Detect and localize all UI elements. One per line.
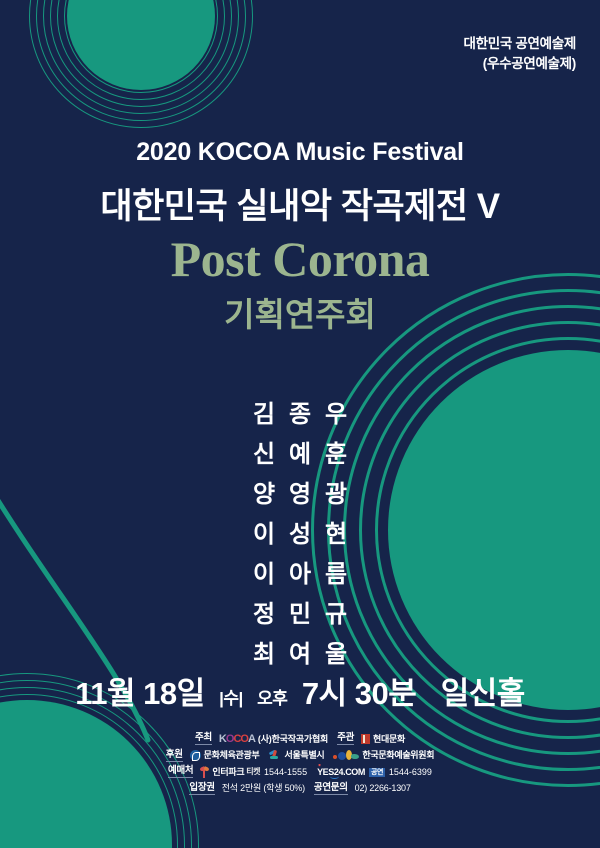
credit-item-organizer: 현대문화 [361, 734, 405, 744]
composer-list: 김 종 우 신 예 훈 양 영 광 이 성 현 이 아 름 [0, 394, 600, 669]
host-org-name: (사)한국작곡가협회 [258, 735, 328, 744]
ticket-price: 전석 2만원 (학생 50%) [222, 784, 305, 793]
composer-char: 예 [282, 434, 318, 469]
composer-char: 신 [246, 434, 282, 469]
composer-char: 정 [246, 594, 282, 629]
credit-label-organizer: 주관 [337, 733, 354, 745]
credit-row-ticketing: 예매처 인터파크 티켓 1544-1555 YES24.COM '' 공연 15… [168, 766, 432, 778]
page-title: 대한민국 실내악 작곡제전 V [0, 178, 600, 229]
list-item: 정 민 규 [246, 594, 354, 629]
composer-char: 종 [282, 394, 318, 429]
vendor-phone-yes24: 1544-6399 [389, 768, 432, 777]
support-org-mcst: 문화체육관광부 [204, 751, 260, 760]
schedule-ampm: 오후 [257, 689, 287, 708]
composer-char: 민 [282, 594, 318, 629]
yes24-tick-icon: '' [318, 764, 320, 772]
vendor-phone-interpark: 1544-1555 [264, 768, 307, 777]
composer-char: 름 [318, 554, 354, 589]
list-item: 이 성 현 [246, 514, 354, 549]
composer-char: 양 [246, 474, 282, 509]
credit-label-ticketing: 예매처 [168, 766, 193, 778]
composer-char: 이 [246, 514, 282, 549]
credits-block: 주최 KOCOA (사)한국작곡가협회 주관 현대문화 후원 문화체육관광부 [0, 733, 600, 795]
festival-badge-line1: 대한민국 공연예술제 [463, 34, 576, 54]
list-item: 양 영 광 [246, 474, 354, 509]
credit-item-yes24[interactable]: YES24.COM '' 공연 1544-6399 [316, 768, 432, 777]
composer-char: 규 [318, 594, 354, 629]
credit-item-arko: 한국문화예술위원회 [333, 750, 434, 761]
support-org-seoul: 서울특별시 [285, 751, 325, 760]
credit-label-pricing: 입장권 [189, 783, 214, 795]
yes24-logo-icon: YES24.COM '' [316, 768, 366, 777]
vendor-name-interpark: 인터파크 [212, 768, 244, 777]
credit-row-host: 주최 KOCOA (사)한국작곡가협회 주관 현대문화 [195, 733, 405, 745]
credit-row-pricing: 입장권 전석 2만원 (학생 50%) 공연문의 02) 2266-1307 [189, 783, 410, 795]
arko-logo-icon [333, 750, 359, 761]
list-item: 이 아 름 [246, 554, 354, 589]
composer-char: 훈 [318, 434, 354, 469]
composer-char: 최 [246, 634, 282, 669]
schedule-weekday: |수| [219, 689, 243, 708]
composer-char: 김 [246, 394, 282, 429]
mcst-logo-icon [190, 750, 201, 761]
composer-char: 여 [282, 634, 318, 669]
kocoa-logo-icon: KOCOA [219, 734, 255, 745]
subtitle-english: Post Corona [0, 230, 600, 288]
ticket-price-value: 전석 2만원 (학생 50%) [222, 784, 305, 793]
composer-char: 울 [318, 634, 354, 669]
credit-item-interpark[interactable]: 인터파크 티켓 1544-1555 [200, 767, 307, 778]
hyundai-culture-logo-icon [361, 734, 370, 744]
festival-kicker: 2020 KOCOA Music Festival [0, 138, 600, 167]
seoul-logo-icon [269, 750, 282, 761]
composer-char: 성 [282, 514, 318, 549]
festival-badge: 대한민국 공연예술제 (우수공연예술제) [463, 34, 576, 75]
inquiry-phone: 02) 2266-1307 [355, 784, 411, 793]
composer-char: 영 [282, 474, 318, 509]
credit-item-kocoa: KOCOA (사)한국작곡가협회 [219, 734, 328, 745]
support-org-arko: 한국문화예술위원회 [362, 751, 434, 760]
inquiry-phone-value: 02) 2266-1307 [355, 784, 411, 793]
composer-char: 이 [246, 554, 282, 589]
schedule-venue: 일신홀 [441, 676, 525, 711]
interpark-logo-icon [200, 767, 209, 778]
vendor-tag-yes24: 공연 [369, 768, 385, 777]
credit-item-seoul: 서울특별시 [269, 750, 325, 761]
list-item: 김 종 우 [246, 394, 354, 429]
schedule-line: 11월 18일 |수| 오후 7시 30분 일신홀 [0, 668, 600, 713]
credit-label-support: 후원 [166, 750, 183, 762]
composer-char: 광 [318, 474, 354, 509]
composer-char: 현 [318, 514, 354, 549]
festival-badge-line2: (우수공연예술제) [463, 54, 576, 74]
list-item: 신 예 훈 [246, 434, 354, 469]
vendor-name-yes24: YES24.COM [316, 768, 366, 777]
schedule-time: 7시 30분 [302, 676, 416, 711]
credit-item-mcst: 문화체육관광부 [190, 750, 260, 761]
organizer-org-name: 현대문화 [373, 735, 405, 744]
composer-char: 아 [282, 554, 318, 589]
schedule-date: 11월 18일 [75, 676, 204, 711]
list-item: 최 여 울 [246, 634, 354, 669]
credit-row-support: 후원 문화체육관광부 서울특별시 한국문화예술위원회 [166, 750, 435, 762]
credit-label-host: 주최 [195, 733, 212, 745]
yes24-smile-icon [330, 774, 339, 779]
concert-poster: 대한민국 공연예술제 (우수공연예술제) 2020 KOCOA Music Fe… [0, 0, 600, 848]
subtitle-korean: 기획연주회 [0, 288, 600, 336]
vendor-tag-interpark: 티켓 [246, 768, 260, 776]
composer-char: 우 [318, 394, 354, 429]
credit-label-inquiry: 공연문의 [314, 783, 348, 795]
